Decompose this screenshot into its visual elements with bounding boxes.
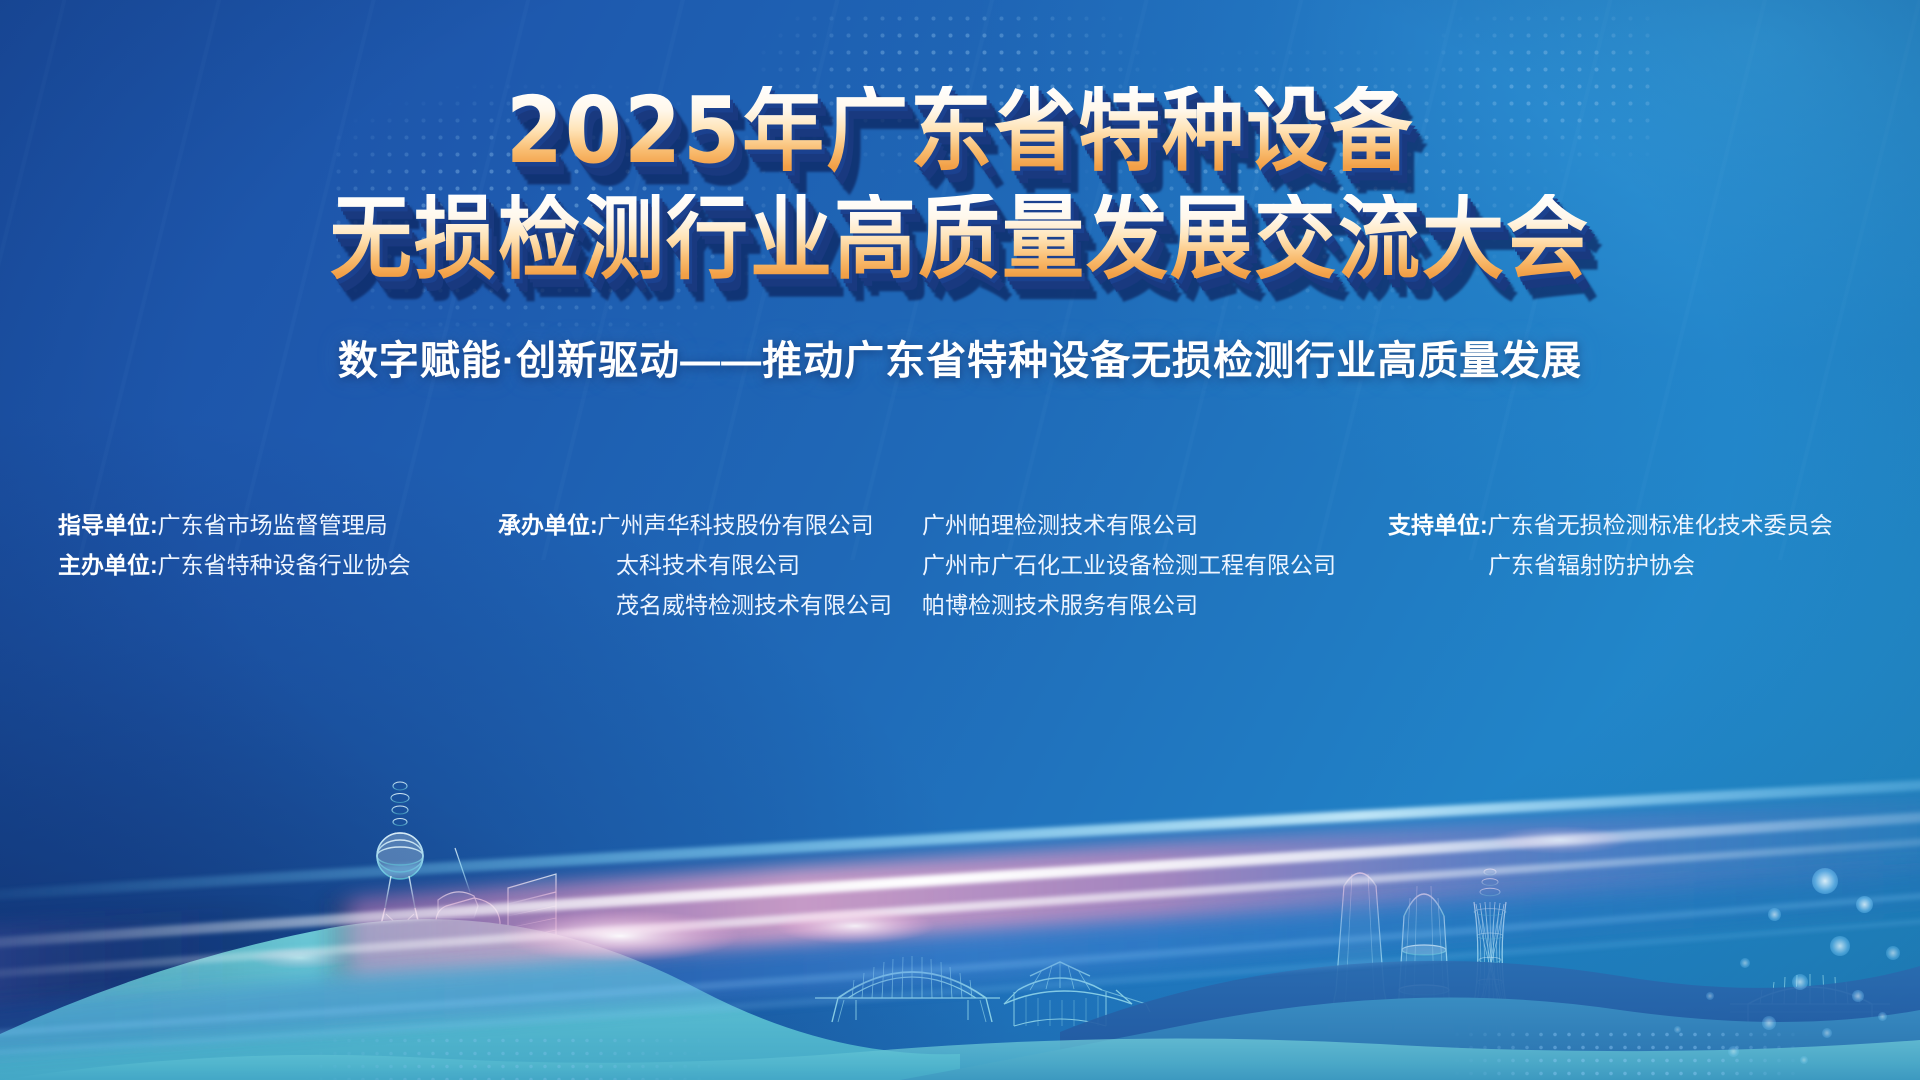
- bottom-dot-strip-right: [1450, 1028, 1810, 1080]
- co-organizer-value-4: 广州帕理检测技术有限公司: [922, 512, 1198, 538]
- co-organizer-value-1: 广州声华科技股份有限公司: [598, 512, 874, 538]
- guidance-unit-value: 广东省市场监督管理局: [158, 512, 388, 538]
- support-unit-row-1: 支持单位:广东省无损检测标准化技术委员会: [1388, 505, 1833, 545]
- guidance-and-organizer-column: 指导单位:广东省市场监督管理局 主办单位:广东省特种设备行业协会: [58, 505, 411, 585]
- co-organizer-column-one: 承办单位:广州声华科技股份有限公司 太科技术有限公司 茂名威特检测技术有限公司: [498, 505, 892, 625]
- co-organizer-value-2: 太科技术有限公司: [616, 552, 800, 578]
- co-organizer-row-2: 太科技术有限公司: [498, 545, 892, 585]
- co-organizer-row-6: 帕博检测技术服务有限公司: [922, 585, 1336, 625]
- co-organizer-row-1: 承办单位:广州声华科技股份有限公司: [498, 505, 892, 545]
- support-unit-value-1: 广东省无损检测标准化技术委员会: [1488, 512, 1833, 538]
- organizer-unit-label: 主办单位:: [58, 552, 158, 578]
- co-organizer-row-5: 广州市广石化工业设备检测工程有限公司: [922, 545, 1336, 585]
- banner-title-line-2: 无损检测行业高质量发展交流大会: [0, 194, 1920, 286]
- bottom-dot-strip-left: [300, 1034, 720, 1080]
- co-organizer-value-3: 茂名威特检测技术有限公司: [616, 592, 892, 618]
- organizer-unit-row: 主办单位:广东省特种设备行业协会: [58, 545, 411, 585]
- organizer-unit-value: 广东省特种设备行业协会: [158, 552, 411, 578]
- co-organizer-row-4: 广州帕理检测技术有限公司: [922, 505, 1336, 545]
- banner-title-line-1: 2025年广东省特种设备: [0, 86, 1920, 178]
- co-organizer-label: 承办单位:: [498, 512, 598, 538]
- headline-block: 2025年广东省特种设备 无损检测行业高质量发展交流大会: [0, 86, 1920, 276]
- support-unit-column: 支持单位:广东省无损检测标准化技术委员会 广东省辐射防护协会: [1388, 505, 1833, 585]
- co-organizer-column-two: 广州帕理检测技术有限公司 广州市广石化工业设备检测工程有限公司 帕博检测技术服务…: [922, 505, 1336, 625]
- guidance-unit-label: 指导单位:: [58, 512, 158, 538]
- banner-subtitle: 数字赋能·创新驱动——推动广东省特种设备无损检测行业高质量发展: [0, 328, 1920, 386]
- support-unit-label: 支持单位:: [1388, 512, 1488, 538]
- city-skyline-scene: [0, 660, 1920, 1080]
- arch-bridge-icon: [815, 956, 1000, 1022]
- support-unit-row-2: 广东省辐射防护协会: [1388, 545, 1833, 585]
- support-unit-value-2: 广东省辐射防护协会: [1488, 552, 1695, 578]
- organizations-block: 指导单位:广东省市场监督管理局 主办单位:广东省特种设备行业协会 承办单位:广州…: [0, 505, 1920, 655]
- co-organizer-row-3: 茂名威特检测技术有限公司: [498, 585, 892, 625]
- guidance-unit-row: 指导单位:广东省市场监督管理局: [58, 505, 411, 545]
- co-organizer-value-6: 帕博检测技术服务有限公司: [922, 592, 1198, 618]
- conference-banner: 2025年广东省特种设备 无损检测行业高质量发展交流大会 数字赋能·创新驱动——…: [0, 0, 1920, 1080]
- co-organizer-value-5: 广州市广石化工业设备检测工程有限公司: [922, 552, 1336, 578]
